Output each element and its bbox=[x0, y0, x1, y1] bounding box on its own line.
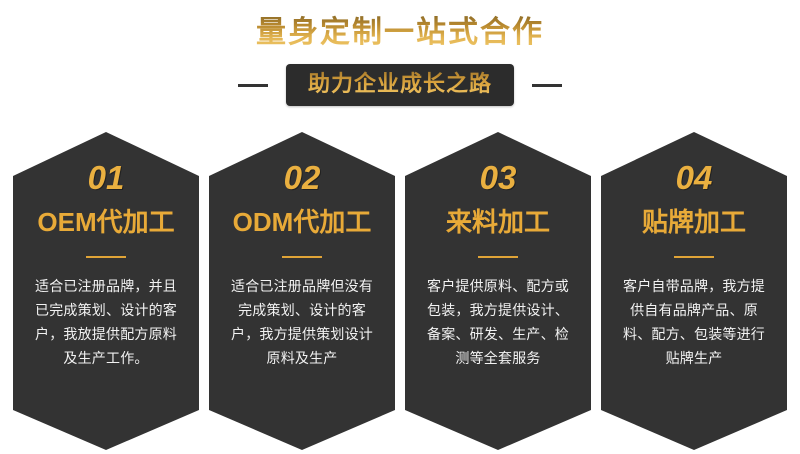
header-section: 量身定制一站式合作 助力企业成长之路 bbox=[0, 0, 800, 120]
service-card-list: 01 OEM代加工 适合已注册品牌，并且已完成策划、设计的客户，我放提供配方原料… bbox=[13, 132, 787, 450]
card-body-text: 客户提供原料、配方或包装，我方提供设计、备案、研发、生产、检测等全套服务 bbox=[423, 274, 573, 370]
card-body-text: 客户自带品牌，我方提供自有品牌产品、原料、配方、包装等进行贴牌生产 bbox=[619, 274, 769, 370]
right-rule-divider bbox=[532, 84, 562, 87]
card-divider bbox=[86, 256, 126, 258]
card-body-text: 适合已注册品牌，并且已完成策划、设计的客户，我放提供配方原料及生产工作。 bbox=[31, 274, 181, 370]
card-number: 03 bbox=[480, 160, 517, 196]
card-title: 来料加工 bbox=[446, 206, 550, 238]
service-card[interactable]: 04 贴牌加工 客户自带品牌，我方提供自有品牌产品、原料、配方、包装等进行贴牌生… bbox=[601, 132, 787, 450]
page-root: 量身定制一站式合作 助力企业成长之路 01 OEM代加工 适合已注册品牌，并且已… bbox=[0, 0, 800, 454]
service-card[interactable]: 03 来料加工 客户提供原料、配方或包装，我方提供设计、备案、研发、生产、检测等… bbox=[405, 132, 591, 450]
card-number: 01 bbox=[88, 160, 125, 196]
card-divider bbox=[478, 256, 518, 258]
card-number: 02 bbox=[284, 160, 321, 196]
card-title: 贴牌加工 bbox=[642, 206, 746, 238]
subtitle-badge: 助力企业成长之路 bbox=[286, 64, 514, 106]
card-divider bbox=[282, 256, 322, 258]
card-title: ODM代加工 bbox=[233, 206, 372, 238]
service-card[interactable]: 02 ODM代加工 适合已注册品牌但没有完成策划、设计的客户，我方提供策划设计原… bbox=[209, 132, 395, 450]
subtitle-row: 助力企业成长之路 bbox=[0, 64, 800, 106]
service-card[interactable]: 01 OEM代加工 适合已注册品牌，并且已完成策划、设计的客户，我放提供配方原料… bbox=[13, 132, 199, 450]
left-rule-divider bbox=[238, 84, 268, 87]
card-divider bbox=[674, 256, 714, 258]
page-title: 量身定制一站式合作 bbox=[0, 14, 800, 52]
card-number: 04 bbox=[676, 160, 713, 196]
subtitle-badge-label: 助力企业成长之路 bbox=[308, 71, 492, 96]
card-title: OEM代加工 bbox=[37, 206, 174, 238]
card-body-text: 适合已注册品牌但没有完成策划、设计的客户，我方提供策划设计原料及生产 bbox=[227, 274, 377, 370]
